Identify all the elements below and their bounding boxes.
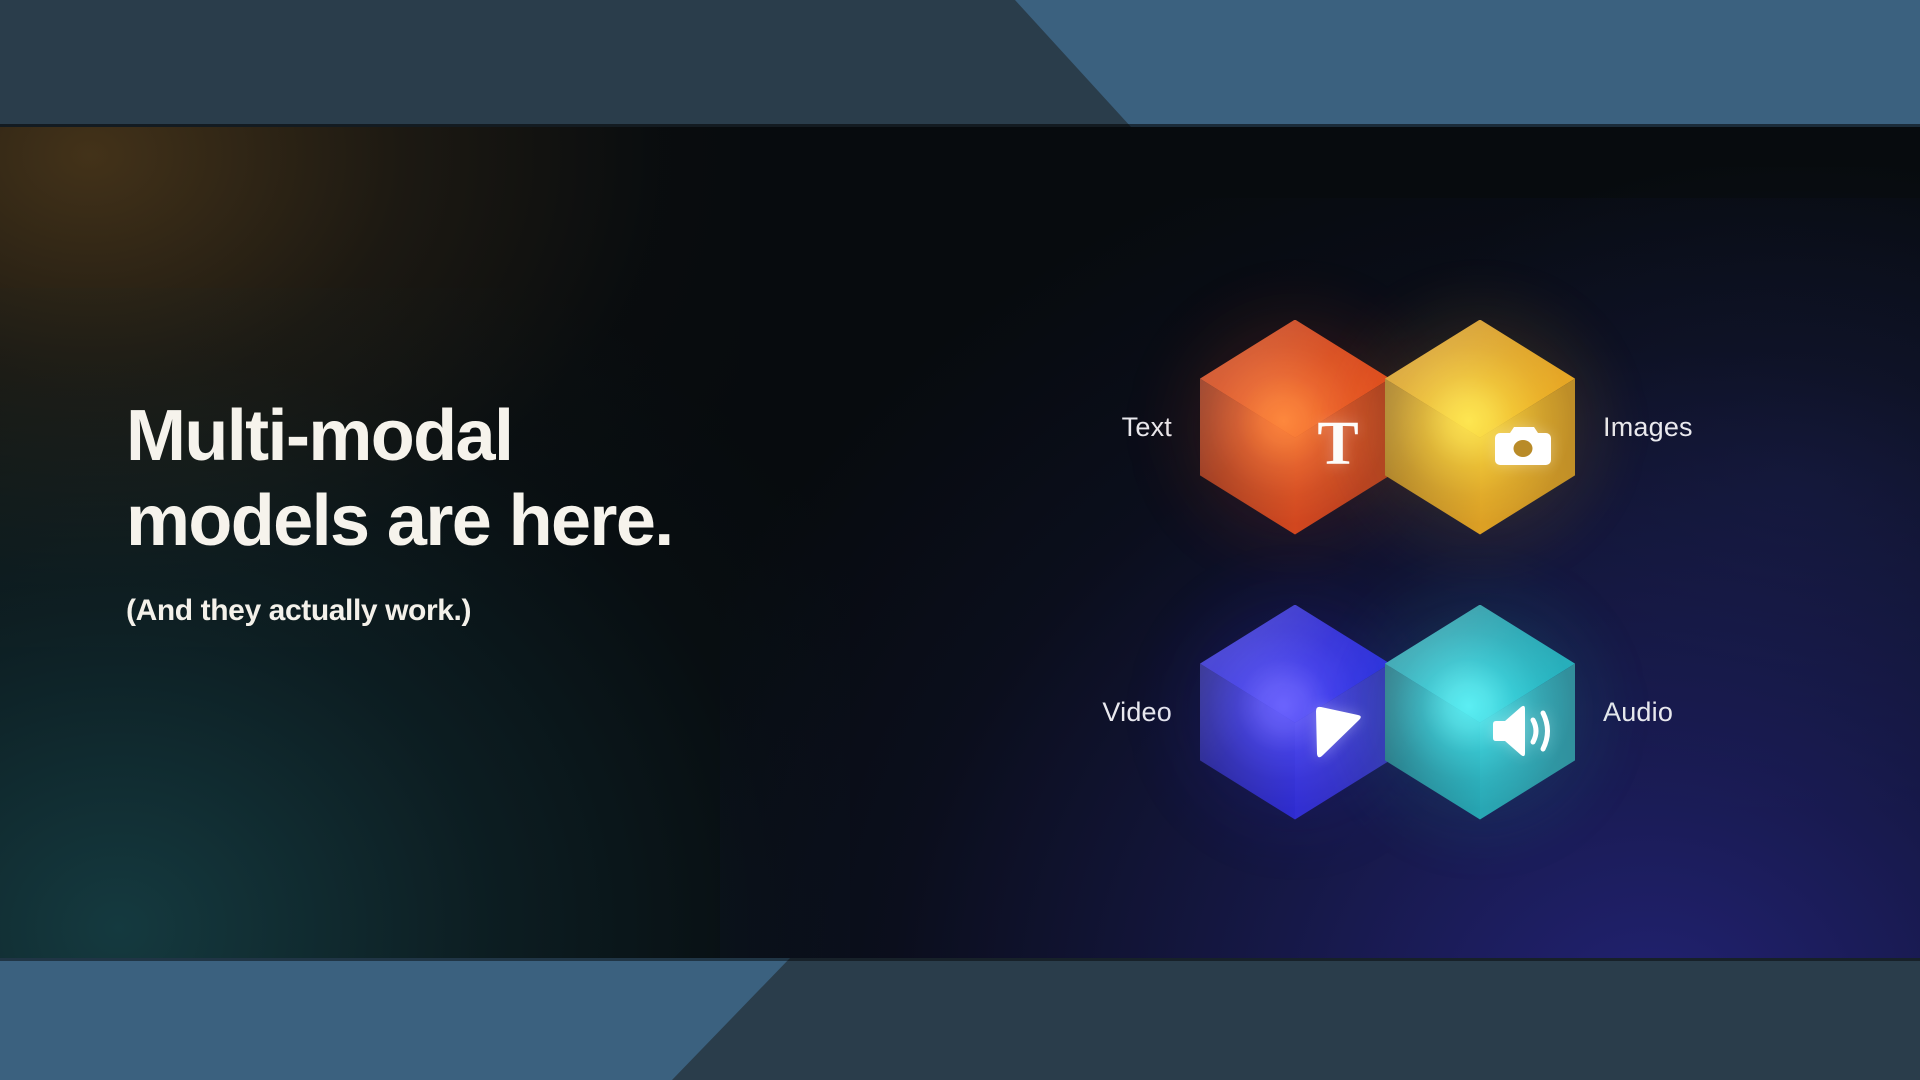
subtitle: (And they actually work.)	[126, 594, 886, 628]
speaker-waves-icon	[1493, 701, 1553, 761]
serif-t-glyph-icon: T	[1308, 416, 1368, 476]
copy-block: Multi-modal models are here. (And they a…	[126, 394, 886, 628]
slide-stage: Multi-modal models are here. (And they a…	[0, 127, 1920, 958]
slide-canvas: Multi-modal models are here. (And they a…	[0, 0, 1920, 1080]
page-title: Multi-modal models are here.	[126, 394, 886, 564]
band-top-edge	[0, 124, 1920, 127]
band-bottom-edge	[0, 958, 1920, 961]
modality-item-text[interactable]: Text T	[1010, 292, 1390, 562]
camera-icon	[1493, 416, 1553, 476]
modality-item-audio[interactable]: Audio	[1385, 577, 1765, 847]
modality-grid: Text T Images	[1010, 292, 1780, 832]
letterbox-band-bottom	[0, 958, 1920, 1080]
letterbox-band-top	[0, 0, 1920, 127]
serif-t-glyph: T	[1317, 413, 1358, 475]
modality-item-video[interactable]: Video	[1010, 577, 1390, 847]
cube-audio[interactable]	[1385, 605, 1575, 820]
modality-item-images[interactable]: Images	[1385, 292, 1765, 562]
play-triangle-icon	[1308, 701, 1368, 761]
cube-images[interactable]	[1385, 320, 1575, 535]
